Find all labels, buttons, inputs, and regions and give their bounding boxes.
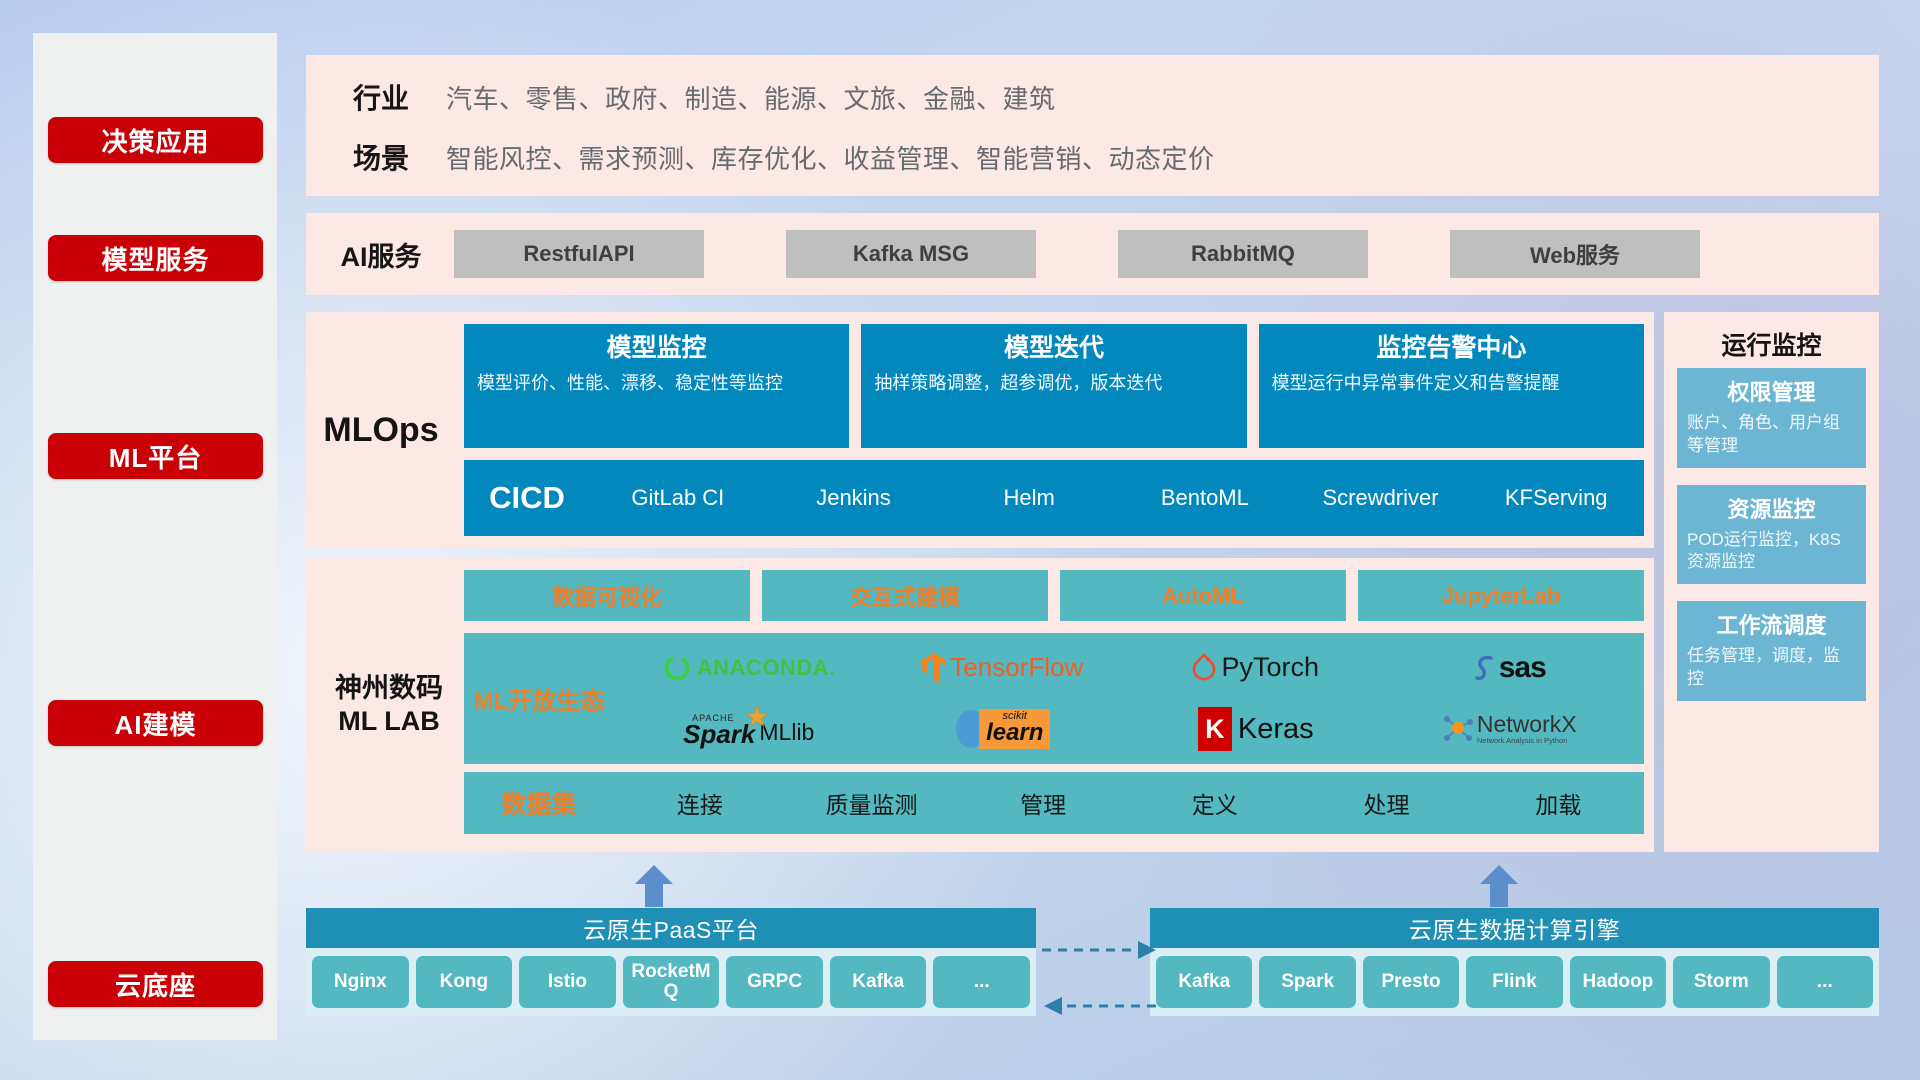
networkx-mark-icon	[1442, 714, 1474, 744]
keras-wordmark: Keras	[1238, 713, 1314, 746]
cloud-data-engine-chip-row: Kafka Spark Presto Flink Hadoop Storm ..…	[1150, 948, 1879, 1016]
dataset-item-loading[interactable]: 加载	[1472, 786, 1644, 820]
scenario-value: 智能风控、需求预测、库存优化、收益管理、智能营销、动态定价	[446, 139, 1215, 176]
pytorch-mark-icon	[1192, 653, 1216, 683]
cicd-title: CICD	[464, 480, 590, 516]
ml-ecosystem-label: ML开放生态	[464, 681, 614, 716]
tensorflow-wordmark: TensorFlow	[950, 652, 1083, 683]
pytorch-wordmark: PyTorch	[1221, 652, 1319, 683]
lab-tool-interactive-modeling[interactable]: 交互式建模	[762, 570, 1048, 621]
stage-button-cloud-base[interactable]: 云底座	[48, 961, 263, 1007]
up-arrow-data-engine-icon	[1477, 863, 1521, 907]
cicd-item-kfserving[interactable]: KFServing	[1468, 487, 1644, 509]
card-desc: 模型运行中异常事件定义和告警提醒	[1272, 372, 1631, 396]
anaconda-wordmark: ANACONDA.	[697, 655, 836, 681]
ai-service-items: RestfulAPI Kafka MSG RabbitMQ Web服务	[454, 230, 1700, 278]
mlops-label: MLOps	[316, 312, 446, 548]
monitor-card-permission[interactable]: 权限管理 账户、角色、用户组等管理	[1677, 368, 1866, 468]
card-desc: 模型评价、性能、漂移、稳定性等监控	[477, 372, 836, 396]
card-desc: 任务管理，调度，监控	[1687, 645, 1856, 691]
dataset-item-connect[interactable]: 连接	[614, 786, 786, 820]
card-title: 模型迭代	[874, 334, 1233, 363]
data-chip-storm[interactable]: Storm	[1673, 956, 1769, 1008]
cicd-item-bentoml[interactable]: BentoML	[1117, 487, 1293, 509]
ml-ecosystem-band: ML开放生态 ANACONDA. TensorFlow	[464, 633, 1644, 764]
card-desc: 抽样策略调整，超参调优，版本迭代	[874, 372, 1233, 396]
cloud-chip-grpc[interactable]: GRPC	[726, 956, 823, 1008]
cloud-data-engine-title: 云原生数据计算引擎	[1150, 908, 1879, 948]
cloud-chip-more[interactable]: ...	[933, 956, 1030, 1008]
ml-lab-tool-row: 数据可视化 交互式建模 AutoML JupyterLab	[464, 570, 1644, 621]
monitor-card-resource[interactable]: 资源监控 POD运行监控，K8S资源监控	[1677, 485, 1866, 585]
networkx-wordmark: NetworkX	[1477, 713, 1577, 736]
runtime-monitor-title: 运行监控	[1664, 312, 1879, 368]
service-chip-rabbitmq[interactable]: RabbitMQ	[1118, 230, 1368, 278]
cloud-native-paas-group: 云原生PaaS平台 Nginx Kong Istio RocketMQ GRPC…	[306, 908, 1036, 1016]
sas-wordmark: sas	[1499, 651, 1546, 685]
sas-logo: sas	[1473, 651, 1546, 685]
keras-mark-icon: K	[1198, 707, 1232, 751]
lab-tool-automl[interactable]: AutoML	[1060, 570, 1346, 621]
learn-text: learn	[986, 722, 1043, 745]
application-layer-panel: 行业 汽车、零售、政府、制造、能源、文旅、金融、建筑 场景 智能风控、需求预测、…	[306, 55, 1879, 196]
stage-button-ml-platform[interactable]: ML平台	[48, 433, 263, 479]
cicd-item-screwdriver[interactable]: Screwdriver	[1293, 487, 1469, 509]
card-title: 工作流调度	[1687, 608, 1856, 640]
service-chip-restfulapi[interactable]: RestfulAPI	[454, 230, 704, 278]
stage-button-model-service[interactable]: 模型服务	[48, 235, 263, 281]
ml-lab-label: 神州数码 ML LAB	[316, 558, 462, 852]
bidirectional-dashed-arrows	[1040, 938, 1158, 1020]
anaconda-mark-icon	[662, 653, 692, 683]
cloud-chip-rocketmq[interactable]: RocketMQ	[623, 956, 720, 1008]
lab-tool-jupyterlab[interactable]: JupyterLab	[1358, 570, 1644, 621]
cloud-paas-chip-row: Nginx Kong Istio RocketMQ GRPC Kafka ...	[306, 948, 1036, 1016]
tensorflow-mark-icon	[921, 652, 947, 684]
card-title: 模型监控	[477, 334, 836, 363]
mlops-card-alert-center[interactable]: 监控告警中心 模型运行中异常事件定义和告警提醒	[1259, 324, 1644, 448]
cloud-native-data-engine-group: 云原生数据计算引擎 Kafka Spark Presto Flink Hadoo…	[1150, 908, 1879, 1016]
ml-ecosystem-logo-grid: ANACONDA. TensorFlow PyTorch	[614, 633, 1644, 764]
cicd-item-jenkins[interactable]: Jenkins	[766, 487, 942, 509]
dataset-item-processing[interactable]: 处理	[1301, 786, 1473, 820]
card-desc: 账户、角色、用户组等管理	[1687, 412, 1856, 458]
mlops-card-model-monitoring[interactable]: 模型监控 模型评价、性能、漂移、稳定性等监控	[464, 324, 849, 448]
industry-label: 行业	[316, 77, 446, 117]
cloud-chip-nginx[interactable]: Nginx	[312, 956, 409, 1008]
cicd-item-helm[interactable]: Helm	[941, 487, 1117, 509]
mlops-card-model-iteration[interactable]: 模型迭代 抽样策略调整，超参调优，版本迭代	[861, 324, 1246, 448]
spark-wordmark: Spark	[683, 723, 755, 746]
dataset-item-management[interactable]: 管理	[957, 786, 1129, 820]
keras-logo: K Keras	[1198, 707, 1314, 751]
data-chip-more[interactable]: ...	[1777, 956, 1873, 1008]
cicd-item-gitlab-ci[interactable]: GitLab CI	[590, 487, 766, 509]
data-chip-kafka[interactable]: Kafka	[1156, 956, 1252, 1008]
up-arrow-paas-icon	[632, 863, 676, 907]
monitor-card-workflow[interactable]: 工作流调度 任务管理，调度，监控	[1677, 601, 1866, 701]
dataset-bar: 数据集 连接 质量监测 管理 定义 处理 加载	[464, 772, 1644, 834]
card-desc: POD运行监控，K8S资源监控	[1687, 529, 1856, 575]
data-chip-presto[interactable]: Presto	[1363, 956, 1459, 1008]
ml-lab-panel: 神州数码 ML LAB 数据可视化 交互式建模 AutoML JupyterLa…	[306, 558, 1654, 852]
service-chip-web-service[interactable]: Web服务	[1450, 230, 1700, 278]
cloud-chip-kafka[interactable]: Kafka	[830, 956, 927, 1008]
ai-service-label: AI服务	[316, 235, 446, 274]
card-title: 监控告警中心	[1272, 334, 1631, 363]
cloud-chip-kong[interactable]: Kong	[416, 956, 513, 1008]
spark-mllib-logo: APACHE Spark MLlib	[683, 713, 814, 746]
stage-rail: 决策应用 模型服务 ML平台 AI建模 云底座	[33, 33, 277, 1040]
lab-tool-data-visualization[interactable]: 数据可视化	[464, 570, 750, 621]
dashed-arrow-left-head	[1044, 997, 1062, 1015]
scikit-learn-logo: scikit learn	[954, 707, 1050, 751]
ml-lab-label-line2: ML LAB	[338, 705, 440, 738]
tensorflow-logo: TensorFlow	[921, 652, 1083, 684]
mlops-card-group: 模型监控 模型评价、性能、漂移、稳定性等监控 模型迭代 抽样策略调整，超参调优，…	[464, 324, 1644, 448]
spark-star-icon	[746, 706, 768, 728]
dataset-title: 数据集	[464, 785, 614, 821]
cloud-chip-istio[interactable]: Istio	[519, 956, 616, 1008]
cicd-bar: CICD GitLab CI Jenkins Helm BentoML Scre…	[464, 460, 1644, 536]
pytorch-logo: PyTorch	[1192, 652, 1319, 683]
ai-service-panel: AI服务 RestfulAPI Kafka MSG RabbitMQ Web服务	[306, 213, 1879, 295]
industry-row: 行业 汽车、零售、政府、制造、能源、文旅、金融、建筑	[316, 77, 1056, 117]
data-chip-hadoop[interactable]: Hadoop	[1570, 956, 1666, 1008]
scenario-label: 场景	[316, 137, 446, 177]
data-chip-flink[interactable]: Flink	[1466, 956, 1562, 1008]
industry-value: 汽车、零售、政府、制造、能源、文旅、金融、建筑	[446, 79, 1056, 116]
dataset-item-quality-monitoring[interactable]: 质量监测	[786, 786, 958, 820]
stage-button-decision-app[interactable]: 决策应用	[48, 117, 263, 163]
networkx-tagline: Network Analysis in Python	[1477, 736, 1577, 745]
service-chip-kafka-msg[interactable]: Kafka MSG	[786, 230, 1036, 278]
scenario-row: 场景 智能风控、需求预测、库存优化、收益管理、智能营销、动态定价	[316, 137, 1215, 177]
data-chip-spark[interactable]: Spark	[1259, 956, 1355, 1008]
card-title: 权限管理	[1687, 375, 1856, 407]
cloud-paas-title: 云原生PaaS平台	[306, 908, 1036, 948]
mlops-panel: MLOps 模型监控 模型评价、性能、漂移、稳定性等监控 模型迭代 抽样策略调整…	[306, 312, 1654, 548]
dashed-arrow-right-head	[1138, 941, 1156, 959]
dataset-item-definition[interactable]: 定义	[1129, 786, 1301, 820]
runtime-monitor-panel: 运行监控 权限管理 账户、角色、用户组等管理 资源监控 POD运行监控，K8S资…	[1664, 312, 1879, 852]
anaconda-logo: ANACONDA.	[662, 653, 836, 683]
ai-service-row: AI服务 RestfulAPI Kafka MSG RabbitMQ Web服务	[316, 213, 1869, 295]
card-title: 资源监控	[1687, 492, 1856, 524]
sas-mark-icon	[1473, 653, 1497, 683]
ml-lab-label-line1: 神州数码	[335, 672, 443, 705]
stage-button-ai-modeling[interactable]: AI建模	[48, 700, 263, 746]
networkx-logo: NetworkX Network Analysis in Python	[1442, 713, 1577, 745]
